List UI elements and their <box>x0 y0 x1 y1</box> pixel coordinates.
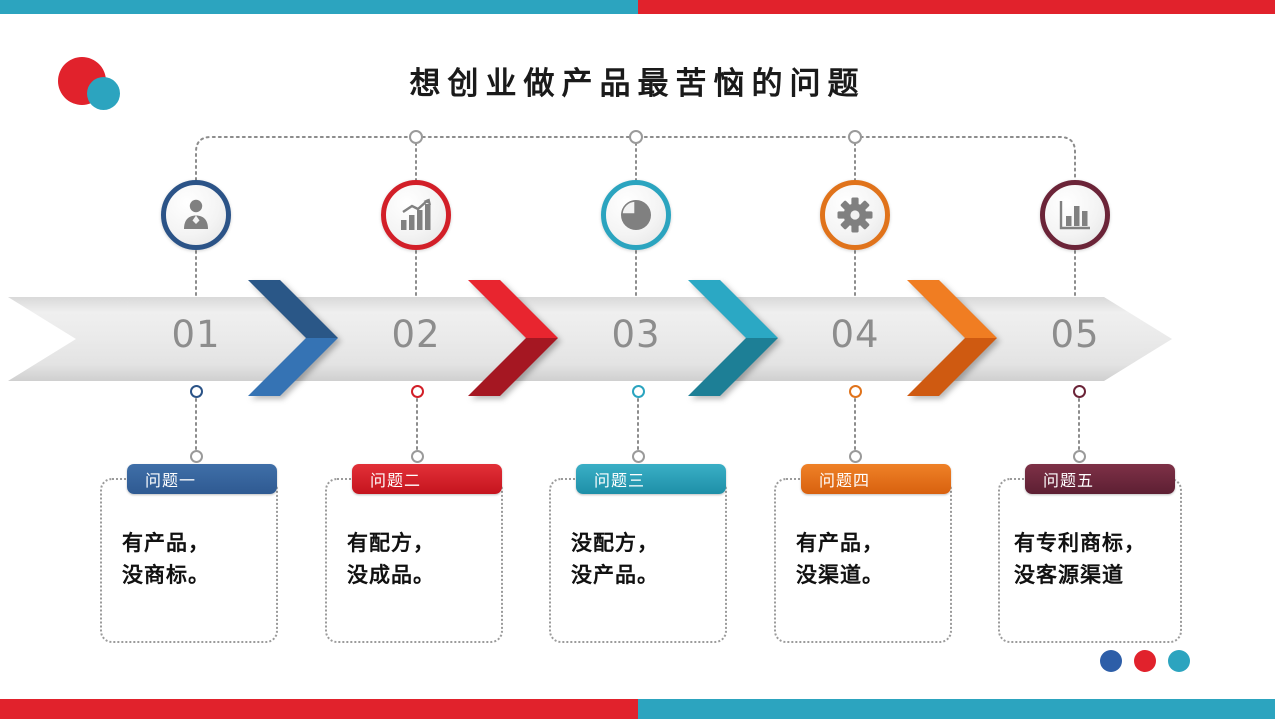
step-icon-circle-03[interactable] <box>601 180 671 250</box>
chevron-divider-1 <box>248 280 366 398</box>
step-number-01: 01 <box>136 313 256 356</box>
step-marker-02 <box>411 385 424 398</box>
problem-card-03[interactable]: 问题三 没配方， 没产品。 <box>549 478 727 643</box>
step-marker-05 <box>1073 385 1086 398</box>
businessman-icon <box>178 197 214 233</box>
problem-card-tab-01: 问题一 <box>127 464 277 494</box>
step-number-02: 02 <box>356 313 476 356</box>
step-marker-01 <box>190 385 203 398</box>
card-marker-04 <box>849 450 862 463</box>
step-number-04: 04 <box>795 313 915 356</box>
step-number-05: 05 <box>1015 313 1135 356</box>
problem-card-02[interactable]: 问题二 有配方， 没成品。 <box>325 478 503 643</box>
top-accent-bar-left <box>0 0 638 14</box>
step-icon-circle-05[interactable] <box>1040 180 1110 250</box>
step-icon-circle-02[interactable] <box>381 180 451 250</box>
page-title: 想创业做产品最苦恼的问题 <box>0 58 1275 103</box>
gear-icon <box>837 197 873 233</box>
problem-card-body-03: 没配方， 没产品。 <box>551 528 725 592</box>
problem-card-01[interactable]: 问题一 有产品， 没商标。 <box>100 478 278 643</box>
problem-card-line: 没配方， <box>571 528 705 560</box>
chevron-divider-3 <box>688 280 806 398</box>
top-accent-bar-right <box>638 0 1275 14</box>
decorative-dot-blue <box>1100 650 1122 672</box>
problem-card-04[interactable]: 问题四 有产品， 没渠道。 <box>774 478 952 643</box>
top-accent-bar <box>0 0 1275 14</box>
step-icon-circle-04[interactable] <box>820 180 890 250</box>
card-marker-03 <box>632 450 645 463</box>
step-marker-04 <box>849 385 862 398</box>
card-marker-02 <box>411 450 424 463</box>
chevron-divider-4 <box>907 280 1025 398</box>
problem-card-line: 没成品。 <box>347 560 481 592</box>
step-marker-03 <box>632 385 645 398</box>
problem-card-line: 没渠道。 <box>796 560 930 592</box>
problem-card-line: 没商标。 <box>122 560 256 592</box>
problem-card-line: 没产品。 <box>571 560 705 592</box>
problem-card-tab-05: 问题五 <box>1025 464 1175 494</box>
decorative-dot-teal <box>1168 650 1190 672</box>
problem-card-line: 有配方， <box>347 528 481 560</box>
problem-card-line: 没客源渠道 <box>1014 560 1166 592</box>
problem-card-tab-03: 问题三 <box>576 464 726 494</box>
decorative-dot-red <box>1134 650 1156 672</box>
problem-card-line: 有产品， <box>796 528 930 560</box>
bar-chart-icon <box>1058 198 1092 232</box>
bar-chart-arrow-icon <box>398 198 434 232</box>
card-marker-05 <box>1073 450 1086 463</box>
bottom-accent-bar <box>0 699 1275 719</box>
decorative-dot-row <box>1100 650 1190 672</box>
problem-card-body-05: 有专利商标， 没客源渠道 <box>1000 528 1180 592</box>
problem-card-body-01: 有产品， 没商标。 <box>102 528 276 592</box>
problem-card-line: 有专利商标， <box>1014 528 1166 560</box>
problem-card-tab-02: 问题二 <box>352 464 502 494</box>
bottom-accent-bar-left <box>0 699 638 719</box>
step-number-03: 03 <box>576 313 696 356</box>
problem-card-body-04: 有产品， 没渠道。 <box>776 528 950 592</box>
problem-card-line: 有产品， <box>122 528 256 560</box>
bottom-accent-bar-right <box>638 699 1275 719</box>
chevron-divider-2 <box>468 280 586 398</box>
pie-chart-icon <box>618 197 654 233</box>
card-marker-01 <box>190 450 203 463</box>
step-icon-circle-01[interactable] <box>161 180 231 250</box>
problem-card-05[interactable]: 问题五 有专利商标， 没客源渠道 <box>998 478 1182 643</box>
problem-card-tab-04: 问题四 <box>801 464 951 494</box>
problem-card-body-02: 有配方， 没成品。 <box>327 528 501 592</box>
